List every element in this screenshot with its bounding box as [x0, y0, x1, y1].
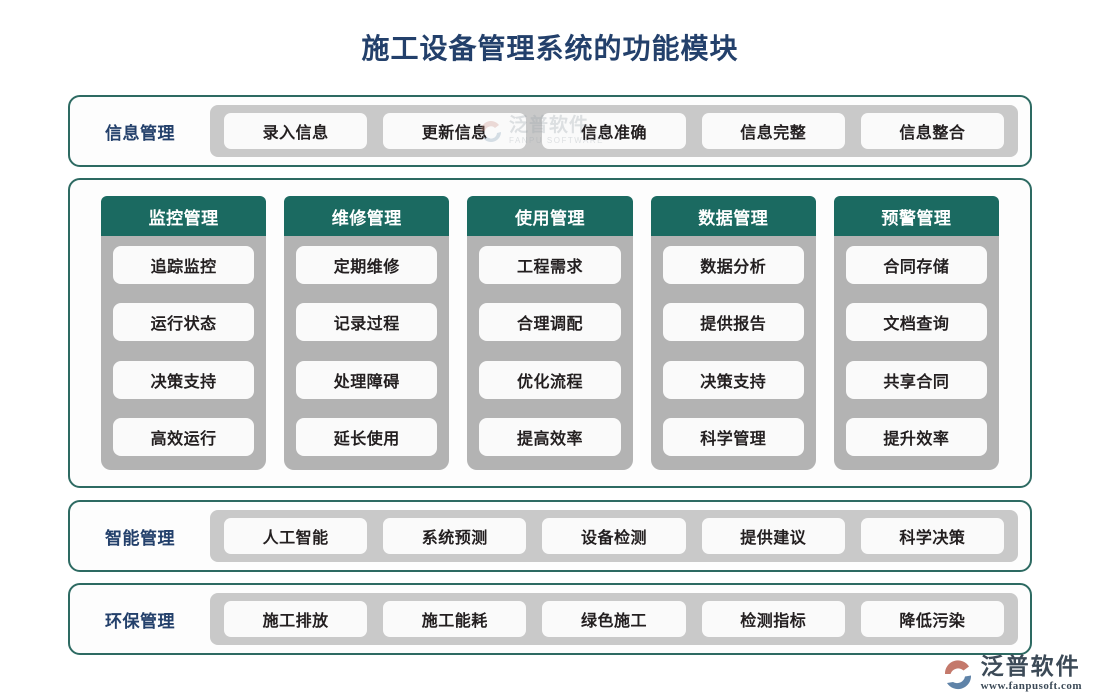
smart-item-5[interactable]: 科学决策 — [861, 518, 1004, 554]
brand-logo: 泛普软件 www.fanpusoft.com — [941, 655, 1082, 692]
env-item-2[interactable]: 施工能耗 — [383, 601, 526, 637]
usage-item-1[interactable]: 工程需求 — [479, 246, 620, 284]
module-column-warning: 预警管理 合同存储 文档查询 共享合同 提升效率 — [834, 196, 999, 470]
env-item-1[interactable]: 施工排放 — [224, 601, 367, 637]
column-header-data: 数据管理 — [651, 196, 816, 236]
warning-item-1[interactable]: 合同存储 — [846, 246, 987, 284]
module-column-data: 数据管理 数据分析 提供报告 决策支持 科学管理 — [651, 196, 816, 470]
usage-item-4[interactable]: 提高效率 — [479, 418, 620, 456]
monitoring-item-2[interactable]: 运行状态 — [113, 303, 254, 341]
section-info-management: 信息管理 录入信息 更新信息 信息准确 信息完整 信息整合 — [68, 95, 1032, 167]
column-body-maintenance: 定期维修 记录过程 处理障碍 延长使用 — [284, 236, 449, 470]
section-environment-management: 环保管理 施工排放 施工能耗 绿色施工 检测指标 降低污染 — [68, 583, 1032, 655]
info-items-band: 录入信息 更新信息 信息准确 信息完整 信息整合 — [210, 105, 1018, 157]
maintenance-item-3[interactable]: 处理障碍 — [296, 361, 437, 399]
env-item-4[interactable]: 检测指标 — [702, 601, 845, 637]
column-body-warning: 合同存储 文档查询 共享合同 提升效率 — [834, 236, 999, 470]
column-body-usage: 工程需求 合理调配 优化流程 提高效率 — [467, 236, 632, 470]
column-header-usage: 使用管理 — [467, 196, 632, 236]
module-column-maintenance: 维修管理 定期维修 记录过程 处理障碍 延长使用 — [284, 196, 449, 470]
data-item-4[interactable]: 科学管理 — [663, 418, 804, 456]
maintenance-item-4[interactable]: 延长使用 — [296, 418, 437, 456]
section-label-info: 信息管理 — [70, 119, 210, 144]
section-label-env: 环保管理 — [70, 607, 210, 632]
section-core-modules: 监控管理 追踪监控 运行状态 决策支持 高效运行 维修管理 定期维修 记录过程 … — [68, 178, 1032, 488]
column-body-data: 数据分析 提供报告 决策支持 科学管理 — [651, 236, 816, 470]
info-item-5[interactable]: 信息整合 — [861, 113, 1004, 149]
brand-name: 泛普软件 — [981, 655, 1082, 678]
brand-url: www.fanpusoft.com — [981, 681, 1082, 692]
env-item-5[interactable]: 降低污染 — [861, 601, 1004, 637]
brand-logo-icon — [941, 657, 975, 691]
column-header-maintenance: 维修管理 — [284, 196, 449, 236]
monitoring-item-4[interactable]: 高效运行 — [113, 418, 254, 456]
warning-item-4[interactable]: 提升效率 — [846, 418, 987, 456]
warning-item-2[interactable]: 文档查询 — [846, 303, 987, 341]
monitoring-item-1[interactable]: 追踪监控 — [113, 246, 254, 284]
page-title: 施工设备管理系统的功能模块 — [0, 0, 1100, 66]
column-header-monitoring: 监控管理 — [101, 196, 266, 236]
smart-items-band: 人工智能 系统预测 设备检测 提供建议 科学决策 — [210, 510, 1018, 562]
smart-item-2[interactable]: 系统预测 — [383, 518, 526, 554]
module-column-usage: 使用管理 工程需求 合理调配 优化流程 提高效率 — [467, 196, 632, 470]
smart-item-4[interactable]: 提供建议 — [702, 518, 845, 554]
section-label-smart: 智能管理 — [70, 524, 210, 549]
maintenance-item-1[interactable]: 定期维修 — [296, 246, 437, 284]
info-item-2[interactable]: 更新信息 — [383, 113, 526, 149]
usage-item-3[interactable]: 优化流程 — [479, 361, 620, 399]
usage-item-2[interactable]: 合理调配 — [479, 303, 620, 341]
maintenance-item-2[interactable]: 记录过程 — [296, 303, 437, 341]
data-item-2[interactable]: 提供报告 — [663, 303, 804, 341]
monitoring-item-3[interactable]: 决策支持 — [113, 361, 254, 399]
info-item-4[interactable]: 信息完整 — [702, 113, 845, 149]
data-item-3[interactable]: 决策支持 — [663, 361, 804, 399]
warning-item-3[interactable]: 共享合同 — [846, 361, 987, 399]
env-item-3[interactable]: 绿色施工 — [542, 601, 685, 637]
column-header-warning: 预警管理 — [834, 196, 999, 236]
column-body-monitoring: 追踪监控 运行状态 决策支持 高效运行 — [101, 236, 266, 470]
info-item-1[interactable]: 录入信息 — [224, 113, 367, 149]
env-items-band: 施工排放 施工能耗 绿色施工 检测指标 降低污染 — [210, 593, 1018, 645]
brand-text: 泛普软件 www.fanpusoft.com — [981, 655, 1082, 692]
smart-item-1[interactable]: 人工智能 — [224, 518, 367, 554]
section-smart-management: 智能管理 人工智能 系统预测 设备检测 提供建议 科学决策 — [68, 500, 1032, 572]
data-item-1[interactable]: 数据分析 — [663, 246, 804, 284]
info-item-3[interactable]: 信息准确 — [542, 113, 685, 149]
module-column-monitoring: 监控管理 追踪监控 运行状态 决策支持 高效运行 — [101, 196, 266, 470]
smart-item-3[interactable]: 设备检测 — [542, 518, 685, 554]
